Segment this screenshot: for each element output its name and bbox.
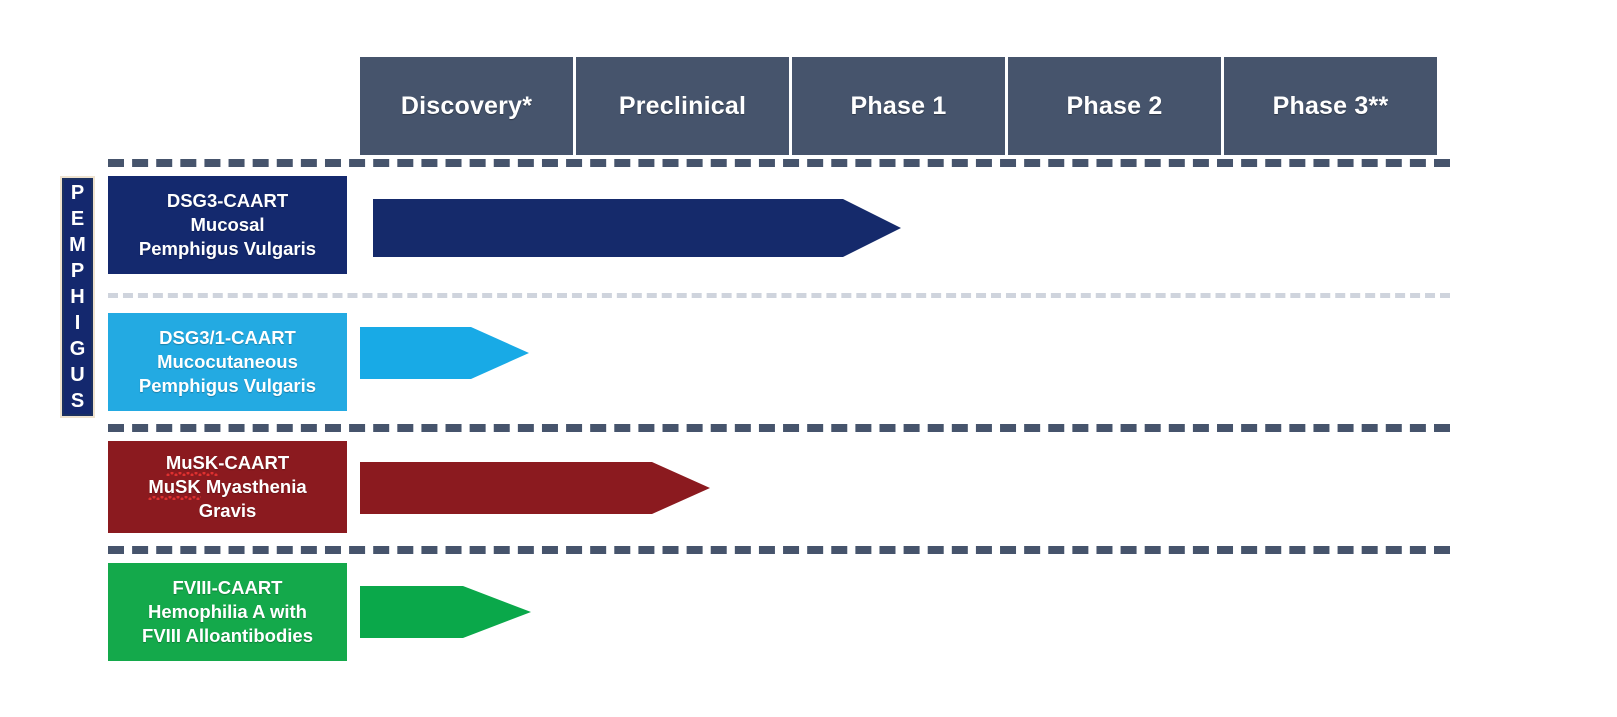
phase-header-label: Phase 1 xyxy=(851,92,947,121)
phase-header-cell-phase-2: Phase 2 xyxy=(1008,57,1221,155)
program-indication-line-2: FVIII Alloantibodies xyxy=(142,624,313,648)
progress-arrow-musk-caart xyxy=(360,462,710,514)
group-label-text: PEMPHIGUS xyxy=(69,180,86,414)
program-title: DSG3/1-CAART xyxy=(159,326,296,350)
program-indication-line-1: Mucocutaneous xyxy=(157,350,298,374)
progress-arrow-shape xyxy=(373,199,901,257)
group-label-pemphigus: PEMPHIGUS xyxy=(62,178,93,416)
progress-arrow-shape xyxy=(360,462,710,514)
pipeline-diagram: Discovery* Preclinical Phase 1 Phase 2 P… xyxy=(0,0,1617,717)
program-title: FVIII-CAART xyxy=(173,576,283,600)
program-indication-line-1: Hemophilia A with xyxy=(148,600,307,624)
program-indication-line-2: Pemphigus Vulgaris xyxy=(139,237,316,261)
progress-arrow-fviii-caart xyxy=(360,586,531,638)
separator-top xyxy=(108,159,1450,167)
program-indication-line-1: MuSK Myasthenia xyxy=(148,475,306,499)
phase-header-cell-preclinical: Preclinical xyxy=(576,57,789,155)
phase-header-label: Phase 3** xyxy=(1273,92,1389,121)
program-indication-line-2: Gravis xyxy=(199,499,257,523)
program-title: DSG3-CAART xyxy=(167,189,288,213)
program-indication-line-1: Mucosal xyxy=(190,213,264,237)
progress-arrow-shape xyxy=(360,327,529,379)
phase-header-label: Phase 2 xyxy=(1067,92,1163,121)
program-box-dsg3-caart[interactable]: DSG3-CAART Mucosal Pemphigus Vulgaris xyxy=(108,176,347,274)
separator-pemphigus-inner xyxy=(108,293,1450,298)
program-box-musk-caart[interactable]: MuSK-CAART MuSK Myasthenia Gravis xyxy=(108,441,347,533)
progress-arrow-dsg3-caart xyxy=(373,199,901,257)
program-box-fviii-caart[interactable]: FVIII-CAART Hemophilia A with FVIII Allo… xyxy=(108,563,347,661)
program-title: MuSK-CAART xyxy=(166,451,289,475)
separator-fviii xyxy=(108,546,1450,554)
progress-arrow-shape xyxy=(360,586,531,638)
phase-header-cell-discovery: Discovery* xyxy=(360,57,573,155)
separator-musk xyxy=(108,424,1450,432)
program-indication-line-2: Pemphigus Vulgaris xyxy=(139,374,316,398)
phase-header-label: Discovery* xyxy=(401,92,532,121)
phase-header-cell-phase-1: Phase 1 xyxy=(792,57,1005,155)
progress-arrow-dsg3-1-caart xyxy=(360,327,529,379)
phase-header-row: Discovery* Preclinical Phase 1 Phase 2 P… xyxy=(360,57,1437,155)
phase-header-label: Preclinical xyxy=(619,92,746,121)
program-box-dsg3-1-caart[interactable]: DSG3/1-CAART Mucocutaneous Pemphigus Vul… xyxy=(108,313,347,411)
phase-header-cell-phase-3: Phase 3** xyxy=(1224,57,1437,155)
